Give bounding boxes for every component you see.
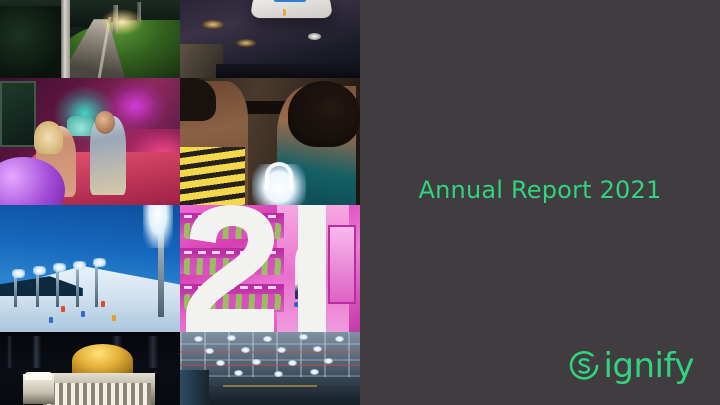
ceiling-scene [180, 0, 360, 78]
warehouse-scene [180, 332, 360, 405]
horticulture-photo [180, 205, 360, 332]
ski-slope-photo [0, 205, 180, 332]
page-title: Annual Report 2021 [360, 176, 720, 204]
vertical-farm-scene [180, 205, 360, 332]
living-room-scene [0, 78, 180, 205]
ski-slope-scene [0, 205, 180, 332]
circled-s-icon [567, 349, 601, 383]
photo-collage [0, 0, 360, 405]
cover-text-panel: Annual Report 2021 ignify [360, 0, 720, 405]
pathway-scene [0, 0, 180, 78]
mosque-scene [0, 332, 180, 405]
annual-report-cover: Annual Report 2021 ignify [0, 0, 720, 405]
night-pathway-photo [0, 0, 180, 78]
solar-lantern-photo [180, 78, 360, 205]
warehouse-photo [180, 332, 360, 405]
mosque-facade-photo [0, 332, 180, 405]
office-ceiling-photo [180, 0, 360, 78]
smart-home-photo [0, 78, 180, 205]
children-lantern-scene [180, 78, 360, 205]
signify-logo: ignify [567, 349, 694, 383]
signify-wordmark: ignify [603, 349, 694, 383]
